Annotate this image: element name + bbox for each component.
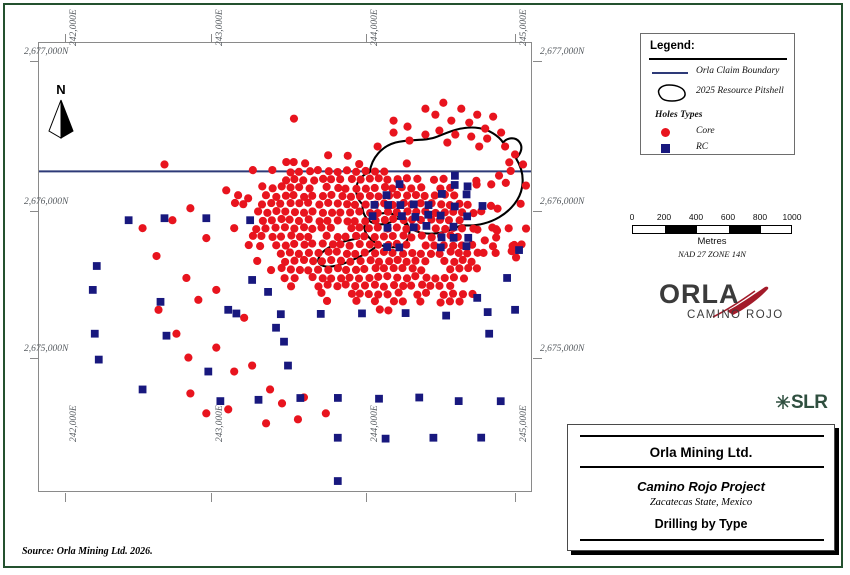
drill-hole-core (439, 99, 447, 107)
drill-hole-core (421, 257, 429, 265)
drill-hole-core (267, 266, 275, 274)
drill-hole-core (426, 282, 434, 290)
drill-hole-rc (395, 244, 403, 252)
drill-hole-core (493, 205, 501, 213)
drill-hole-core (360, 265, 368, 273)
drill-hole-core (277, 215, 285, 223)
drill-hole-core (324, 281, 332, 289)
drill-hole-core (371, 297, 379, 305)
drill-hole-core (314, 249, 322, 257)
drill-hole-core (261, 224, 269, 232)
drill-hole-core (398, 264, 406, 272)
drill-hole-core (343, 166, 351, 174)
drill-hole-rc (125, 216, 133, 224)
drill-hole-core (257, 232, 265, 240)
drill-hole-core (295, 199, 303, 207)
drill-hole-core (416, 297, 424, 305)
drill-hole-core (467, 133, 475, 141)
drill-hole-core (389, 117, 397, 125)
drill-hole-rc (246, 216, 254, 224)
drill-hole-core (440, 257, 448, 265)
drill-hole-core (435, 282, 443, 290)
drill-hole-core (249, 232, 257, 240)
drill-hole-core (495, 172, 503, 180)
drill-hole-core (351, 201, 359, 209)
drill-hole-core (334, 233, 342, 241)
drill-hole-core (374, 241, 382, 249)
legend-label-core: Core (696, 126, 715, 136)
drill-hole-core (371, 184, 379, 192)
drill-hole-rc (463, 212, 471, 220)
drill-hole-core (290, 115, 298, 123)
drill-hole-core (327, 191, 335, 199)
drill-hole-core (449, 290, 457, 298)
axis-label-top-244000E: 244,000E (370, 9, 380, 46)
drill-hole-core (473, 264, 481, 272)
drill-hole-core (286, 183, 294, 191)
north-arrow: N (44, 82, 78, 140)
tick-bottom-242000E (65, 493, 66, 502)
drill-hole-core (317, 289, 325, 297)
drill-hole-core (277, 250, 285, 258)
drill-hole-core (367, 256, 375, 264)
drill-hole-core (334, 184, 342, 192)
drill-hole-rc (511, 306, 519, 314)
drill-hole-core (315, 200, 323, 208)
drill-hole-core (310, 176, 318, 184)
scale-bar: 0 200 400 600 800 1000 Metres NAD 27 ZON… (632, 212, 804, 259)
drill-hole-rc (204, 368, 212, 376)
drill-hole-core (256, 242, 264, 250)
drill-hole-core (384, 306, 392, 314)
drill-hole-core (362, 167, 370, 175)
drill-hole-rc (89, 286, 97, 294)
drill-hole-rc (473, 294, 481, 302)
tick-top-242000E (65, 34, 66, 43)
drill-hole-core (473, 226, 481, 234)
drill-hole-core (324, 151, 332, 159)
drill-hole-core (497, 129, 505, 137)
legend-item-pitshell: 2025 Resource Pitshell (650, 82, 790, 104)
drill-hole-core (337, 257, 345, 265)
scale-bar-units: Metres (632, 236, 792, 247)
drill-hole-core (271, 224, 279, 232)
drill-hole-core (356, 289, 364, 297)
drill-hole-core (308, 225, 316, 233)
drill-hole-rc (334, 394, 342, 402)
drill-hole-core (422, 289, 430, 297)
drill-hole-core (389, 215, 397, 223)
drill-hole-core (399, 282, 407, 290)
drill-hole-core (300, 209, 308, 217)
tick-left-2677000N (30, 61, 39, 62)
drill-hole-core (417, 199, 425, 207)
drill-hole-core (341, 233, 349, 241)
drill-hole-core (327, 256, 335, 264)
drill-hole-core (383, 176, 391, 184)
drill-hole-core (287, 282, 295, 290)
drill-hole-core (459, 290, 467, 298)
drill-hole-core (440, 291, 448, 299)
legend-label-rc: RC (696, 142, 708, 152)
drill-hole-core (352, 266, 360, 274)
drill-hole-core (411, 257, 419, 265)
drill-hole-core (319, 240, 327, 248)
drill-hole-rc (397, 201, 405, 209)
drill-hole-core (403, 174, 411, 182)
drill-hole-core (258, 200, 266, 208)
drill-hole-core (347, 224, 355, 232)
drill-hole-core (258, 182, 266, 190)
camino-rojo-wordmark: CAMINO ROJO (687, 309, 784, 321)
drill-hole-core (224, 405, 232, 413)
drill-hole-core (346, 242, 354, 250)
drill-hole-core (324, 248, 332, 256)
drill-hole-core (441, 274, 449, 282)
drill-hole-core (376, 305, 384, 313)
drill-hole-core (409, 264, 417, 272)
drill-hole-rc (423, 222, 431, 230)
drill-hole-core (319, 209, 327, 217)
drill-hole-core (355, 207, 363, 215)
drill-hole-core (324, 199, 332, 207)
drill-hole-core (323, 217, 331, 225)
drill-hole-core (290, 224, 298, 232)
tick-bottom-244000E (366, 493, 367, 502)
drill-hole-core (371, 233, 379, 241)
drill-hole-core (483, 134, 491, 142)
drill-hole-core (381, 216, 389, 224)
legend-title: Legend: (650, 40, 695, 52)
drill-hole-core (421, 131, 429, 139)
drill-hole-core (507, 167, 515, 175)
drill-hole-core (352, 297, 360, 305)
drill-hole-core (282, 192, 290, 200)
drill-hole-rc (248, 276, 256, 284)
tick-right-2675000N (533, 358, 542, 359)
drill-hole-core (268, 233, 276, 241)
drill-hole-core (489, 242, 497, 250)
drill-hole-rc (484, 308, 492, 316)
drill-hole-core (489, 113, 497, 121)
drill-hole-core (308, 207, 316, 215)
title-block-company: Orla Mining Ltd. (568, 445, 834, 460)
drill-hole-core (304, 199, 312, 207)
title-block-rule-top (580, 435, 824, 437)
drill-hole-core (309, 273, 317, 281)
drill-hole-core (464, 201, 472, 209)
drill-hole-rc (515, 246, 523, 254)
drill-hole-core (351, 282, 359, 290)
drill-hole-core (431, 111, 439, 119)
drill-hole-core (314, 166, 322, 174)
drill-hole-core (430, 176, 438, 184)
drill-hole-core (362, 185, 370, 193)
drill-hole-core (371, 249, 379, 257)
tick-top-244000E (366, 34, 367, 43)
scale-bar-block-2 (729, 226, 761, 233)
drill-hole-core (281, 207, 289, 215)
drill-hole-core (323, 232, 331, 240)
drill-hole-core (254, 207, 262, 215)
drill-hole-core (300, 223, 308, 231)
drill-hole-core (268, 216, 276, 224)
legend-item-claim-boundary: Orla Claim Boundary (650, 64, 790, 82)
drill-hole-core (459, 256, 467, 264)
drill-hole-core (456, 297, 464, 305)
map-panel[interactable] (38, 42, 532, 492)
drill-hole-rc (284, 362, 292, 370)
drill-hole-rc (163, 332, 171, 340)
drill-hole-rc (497, 397, 505, 405)
drill-hole-core (465, 119, 473, 127)
drill-hole-core (289, 191, 297, 199)
drill-hole-core (278, 182, 286, 190)
drill-hole-core (290, 240, 298, 248)
drill-hole-core (272, 207, 280, 215)
drill-hole-core (437, 200, 445, 208)
drill-hole-core (346, 258, 354, 266)
drill-hole-core (276, 200, 284, 208)
drill-hole-core (390, 297, 398, 305)
drill-hole-core (473, 111, 481, 119)
drill-hole-core (202, 234, 210, 242)
drill-hole-core (344, 152, 352, 160)
drill-hole-rc (157, 298, 165, 306)
drill-hole-core (319, 192, 327, 200)
drill-hole-rc (451, 181, 459, 189)
drill-hole-core (336, 240, 344, 248)
drill-hole-core (417, 183, 425, 191)
slr-asterisk-icon (775, 394, 791, 410)
drill-hole-rc (161, 214, 169, 222)
scale-tick-0: 0 (630, 212, 635, 222)
drill-hole-core (230, 224, 238, 232)
drill-hole-core (334, 199, 342, 207)
source-note: Source: Orla Mining Ltd. 2026. (22, 546, 153, 557)
drill-hole-core (380, 264, 388, 272)
drill-hole-core (418, 281, 426, 289)
drill-hole-core (407, 233, 415, 241)
drill-hole-core (403, 159, 411, 167)
drill-hole-rc (334, 434, 342, 442)
drill-hole-core (278, 264, 286, 272)
drill-hole-rc (430, 434, 438, 442)
drill-hole-core (186, 389, 194, 397)
drill-hole-core (380, 232, 388, 240)
drill-hole-core (301, 159, 309, 167)
title-block-project: Camino Rojo Project (568, 479, 834, 494)
drill-hole-core (450, 191, 458, 199)
drill-hole-core (290, 257, 298, 265)
drill-hole-core (304, 266, 312, 274)
drill-hole-core (357, 257, 365, 265)
tick-left-2676000N (30, 211, 39, 212)
drill-hole-rc (424, 211, 432, 219)
drill-hole-core (428, 233, 436, 241)
drill-hole-core (355, 223, 363, 231)
drill-hole-rc (437, 244, 445, 252)
drill-hole-core (393, 191, 401, 199)
axis-label-bottom-245000E: 245,000E (519, 405, 529, 442)
drill-hole-core (286, 248, 294, 256)
drill-hole-core (421, 192, 429, 200)
drill-hole-core (319, 175, 327, 183)
drill-hole-core (408, 249, 416, 257)
drill-hole-core (436, 298, 444, 306)
axis-label-left-2677000N: 2,677,000N (24, 47, 68, 57)
tick-right-2677000N (533, 61, 542, 62)
drill-hole-rc (410, 200, 418, 208)
drill-hole-rc (334, 477, 342, 485)
drill-hole-core (352, 232, 360, 240)
legend-label-pitshell: 2025 Resource Pitshell (696, 86, 784, 96)
drill-hole-core (389, 129, 397, 137)
orla-logo: ORLA CAMINO ROJO (655, 281, 795, 327)
drill-hole-core (287, 265, 295, 273)
drill-hole-core (212, 344, 220, 352)
drill-hole-core (334, 264, 342, 272)
drill-hole-core (390, 281, 398, 289)
drill-hole-core (343, 200, 351, 208)
drill-hole-rc (411, 213, 419, 221)
drill-hole-rc (233, 310, 241, 318)
drill-hole-core (245, 241, 253, 249)
scale-bar-block-1 (665, 226, 697, 233)
drill-hole-core (403, 123, 411, 131)
drill-hole-core (347, 193, 355, 201)
drill-hole-core (345, 274, 353, 282)
drill-hole-core (361, 281, 369, 289)
drill-hole-rc (296, 394, 304, 402)
drill-hole-rc (463, 242, 471, 250)
drill-hole-core (194, 296, 202, 304)
pitshell-swatch-icon (651, 82, 691, 104)
drill-hole-core (269, 184, 277, 192)
scale-bar-graphic (632, 225, 792, 234)
drill-hole-core (505, 224, 513, 232)
drill-hole-rc (95, 356, 103, 364)
drill-hole-core (342, 280, 350, 288)
drill-hole-core (240, 314, 248, 322)
drill-hole-core (481, 125, 489, 133)
drill-hole-core (348, 290, 356, 298)
drill-hole-rc (450, 223, 458, 231)
drill-hole-core (417, 250, 425, 258)
drill-hole-core (306, 184, 314, 192)
drill-hole-rc (384, 201, 392, 209)
drill-hole-rc (415, 394, 423, 402)
drill-hole-core (234, 191, 242, 199)
drill-hole-core (356, 192, 364, 200)
drill-hole-core (296, 266, 304, 274)
slr-logo: SLR (775, 392, 828, 414)
drill-hole-rc (463, 191, 471, 199)
drill-hole-core (355, 160, 363, 168)
drill-hole-rc (396, 180, 404, 188)
drill-hole-rc (382, 435, 390, 443)
drill-hole-core (405, 136, 413, 144)
drill-hole-core (322, 409, 330, 417)
drill-hole-core (152, 252, 160, 260)
drill-hole-core (472, 177, 480, 185)
drill-hole-core (481, 236, 489, 244)
tick-left-2675000N (30, 358, 39, 359)
drill-hole-core (502, 179, 510, 187)
drill-hole-core (399, 297, 407, 305)
drill-hole-core (294, 415, 302, 423)
axis-label-top-242000E: 242,000E (69, 9, 79, 46)
drill-hole-core (455, 264, 463, 272)
drill-hole-core (450, 273, 458, 281)
drill-hole-rc (437, 212, 445, 220)
drill-hole-core (281, 223, 289, 231)
drill-hole-core (374, 142, 382, 150)
drill-hole-core (432, 224, 440, 232)
drill-hole-core (492, 233, 500, 241)
drill-hole-core (346, 208, 354, 216)
drill-hole-core (390, 264, 398, 272)
drill-hole-core (266, 385, 274, 393)
drill-hole-core (333, 248, 341, 256)
drill-hole-core (447, 248, 455, 256)
drill-hole-core (327, 175, 335, 183)
drill-hole-core (522, 224, 530, 232)
drill-hole-core (517, 200, 525, 208)
scale-tick-200: 200 (657, 212, 671, 222)
drill-hole-rc (216, 397, 224, 405)
drill-hole-core (511, 150, 519, 158)
title-block-rule-mid (580, 466, 824, 468)
drill-hole-core (318, 257, 326, 265)
drill-hole-core (361, 248, 369, 256)
drill-hole-core (277, 233, 285, 241)
drill-hole-core (351, 250, 359, 258)
drill-hole-core (374, 192, 382, 200)
drill-hole-core (278, 399, 286, 407)
drill-hole-core (328, 209, 336, 217)
drill-hole-core (290, 158, 298, 166)
drill-hole-core (383, 290, 391, 298)
drill-hole-core (300, 256, 308, 264)
drill-hole-core (291, 208, 299, 216)
core-marker-swatch (661, 128, 670, 137)
drill-hole-core (357, 176, 365, 184)
drill-hole-core (352, 185, 360, 193)
drill-hole-core (360, 232, 368, 240)
drill-hole-core (263, 209, 271, 217)
drill-hole-core (282, 158, 290, 166)
drill-hole-core (286, 199, 294, 207)
drill-hole-core (348, 175, 356, 183)
drill-hole-core (334, 216, 342, 224)
drill-hole-core (262, 191, 270, 199)
axis-label-left-2676000N: 2,676,000N (24, 197, 68, 207)
drill-hole-core (361, 217, 369, 225)
drill-hole-rc (255, 396, 263, 404)
drill-hole-core (365, 274, 373, 282)
drill-hole-core (306, 167, 314, 175)
drill-hole-core (272, 241, 280, 249)
drill-hole-core (385, 257, 393, 265)
drill-hole-core (439, 175, 447, 183)
drill-hole-core (418, 232, 426, 240)
drill-hole-core (267, 199, 275, 207)
drill-hole-core (309, 257, 317, 265)
drill-hole-rc (464, 182, 472, 190)
drill-hole-core (262, 419, 270, 427)
tick-bottom-243000E (211, 493, 212, 502)
